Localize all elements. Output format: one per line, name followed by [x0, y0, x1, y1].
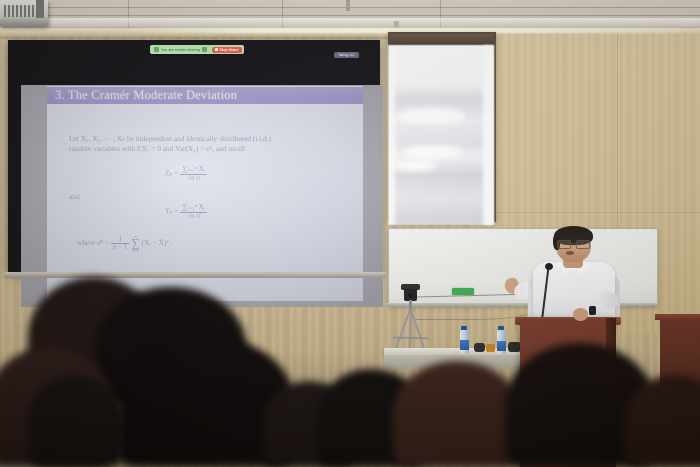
- window-light-glare: [484, 45, 494, 225]
- ceiling-pipe: [346, 0, 350, 11]
- slide-title: 3. The Cramér Moderate Deviation: [55, 88, 237, 103]
- glasses-lens-right: [576, 240, 590, 249]
- formula-sigma-lead: where σ̂² =: [77, 238, 109, 247]
- blind-cloud-pattern: [396, 108, 466, 124]
- formula-sigma-fraction: 1 n − 1: [111, 236, 129, 252]
- glasses-bridge: [569, 243, 576, 244]
- blind-cloud-pattern: [404, 145, 464, 159]
- lecture-hall-photo: 3. The Cramér Moderate Deviation Let X₁,…: [0, 0, 700, 467]
- stop-share-label: Stop Share: [220, 48, 239, 52]
- camera-lens: [407, 292, 414, 299]
- pause-share-icon[interactable]: [202, 47, 207, 52]
- zoom-share-toolbar[interactable]: You are screen sharing Stop Share: [150, 45, 244, 54]
- orange-object: [486, 344, 495, 352]
- roller-blind: [388, 45, 494, 225]
- bottle-label: [497, 341, 506, 351]
- green-sign: [452, 288, 474, 295]
- sum-symbol: ∑: [131, 239, 140, 248]
- formula-tn: Tₙ = ∑ᵢ₌₁ⁿ Xᵢ √n σ̂: [165, 204, 207, 220]
- wristwatch: [589, 306, 596, 315]
- bottle-cap: [461, 326, 467, 330]
- projection-screen: 3. The Cramér Moderate Deviation Let X₁,…: [8, 40, 380, 272]
- formula-zn-fraction: ∑ᵢ₌₁ⁿ Xᵢ √n σ: [180, 166, 206, 182]
- formula-sigma-tail: (Xᵢ − X̄)² .: [142, 238, 173, 247]
- ceiling-panel: [0, 18, 700, 27]
- formula-sigma-denominator: n − 1: [111, 244, 129, 252]
- glasses-lens-left: [557, 240, 571, 249]
- microphone-icon: [545, 263, 553, 270]
- ceiling-seam: [0, 7, 700, 8]
- slide-connector-and: and: [69, 192, 80, 202]
- formula-tn-fraction: ∑ᵢ₌₁ⁿ Xᵢ √n σ̂: [180, 204, 206, 220]
- blind-cloud-pattern: [392, 160, 438, 171]
- presenter-right-hand: [573, 308, 588, 321]
- formula-tn-denominator: √n σ̂: [180, 213, 206, 221]
- sum-lower-limit: i=1: [131, 248, 140, 253]
- wall-panel-seam: [492, 212, 700, 213]
- audience-member: [28, 375, 124, 467]
- bottle-label: [460, 340, 469, 350]
- slide-text-line-2: random variables with EX₁ = 0 and Var(X₁…: [69, 144, 245, 154]
- formula-zn-denominator: √n σ: [180, 175, 206, 183]
- bottle-cap: [498, 326, 504, 330]
- ceiling-seam: [0, 15, 700, 16]
- projector-mount: [36, 0, 44, 18]
- summation-operator: n ∑ i=1: [131, 234, 140, 253]
- glasses-icon: [557, 240, 590, 247]
- zoom-participant-nametag: Tahng UC: [334, 52, 359, 58]
- formula-zn-lhs: Zₙ =: [165, 169, 178, 178]
- formula-sigma-hat: where σ̂² = 1 n − 1 n ∑ i=1 (Xᵢ − X̄)² .: [77, 234, 172, 253]
- screen-share-icon: [154, 47, 159, 52]
- screen-bottom-rail: [4, 272, 386, 278]
- projector-vent: [4, 5, 34, 17]
- audience-member: [393, 361, 521, 467]
- formula-zn: Zₙ = ∑ᵢ₌₁ⁿ Xᵢ √n σ: [165, 166, 207, 182]
- presenter-mouth: [566, 251, 574, 255]
- presentation-slide: 3. The Cramér Moderate Deviation Let X₁,…: [47, 86, 363, 301]
- formula-tn-lhs: Tₙ =: [165, 207, 178, 216]
- slide-text-line-1: Let X₁, X₂, ⋯ , Xₙ be independent and id…: [69, 134, 271, 144]
- side-cabinet-top: [655, 314, 700, 320]
- stop-share-button[interactable]: Stop Share: [212, 47, 241, 53]
- dark-object: [474, 343, 485, 352]
- stop-icon: [215, 48, 218, 51]
- zoom-share-status: You are screen sharing: [161, 48, 200, 52]
